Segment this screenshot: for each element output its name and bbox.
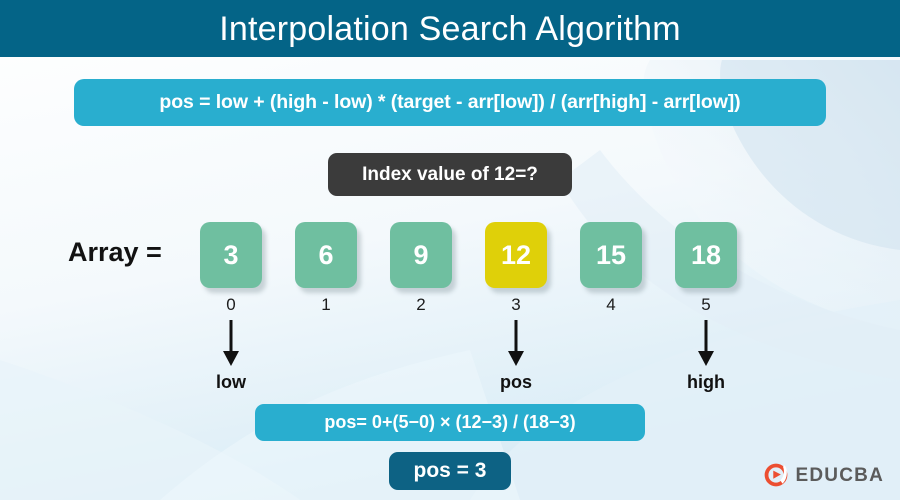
pointer-arrow-icon <box>211 320 251 370</box>
result-badge: pos = 3 <box>389 452 511 490</box>
array-cell-value: 3 <box>223 242 238 269</box>
array-cell-index: 4 <box>580 295 642 315</box>
educba-logo-text: EDUCBA <box>796 466 884 485</box>
array-cell-index: 5 <box>675 295 737 315</box>
array-cell-value: 6 <box>318 242 333 269</box>
array-cell-index: 0 <box>200 295 262 315</box>
pointer-label-high: high <box>646 372 766 393</box>
array-cell-value: 15 <box>596 242 626 269</box>
pointer-arrow-icon <box>496 320 536 370</box>
array-cell-index: 3 <box>485 295 547 315</box>
array-cell: 9 <box>390 222 452 288</box>
calculation-banner: pos= 0+(5−0) × (12−3) / (18−3) <box>255 404 645 441</box>
pointer-label-pos: pos <box>456 372 576 393</box>
array-cell-index: 2 <box>390 295 452 315</box>
array-cell-value: 12 <box>501 242 531 269</box>
array-cell-index: 1 <box>295 295 357 315</box>
array-cell-value: 18 <box>691 242 721 269</box>
pointer-arrow-icon <box>686 320 726 370</box>
array-cell: 12 <box>485 222 547 288</box>
array-cell-value: 9 <box>413 242 428 269</box>
array-cell: 15 <box>580 222 642 288</box>
array-cell: 6 <box>295 222 357 288</box>
educba-play-icon <box>763 462 789 488</box>
result-text: pos = 3 <box>414 459 487 483</box>
array-cell: 18 <box>675 222 737 288</box>
pointer-label-low: low <box>171 372 291 393</box>
educba-logo: EDUCBA <box>763 462 884 488</box>
array-cell: 3 <box>200 222 262 288</box>
calculation-text: pos= 0+(5−0) × (12−3) / (18−3) <box>324 412 575 433</box>
page-title: Interpolation Search Algorithm <box>219 12 680 46</box>
slide-header: Interpolation Search Algorithm <box>0 0 900 57</box>
infographic-slide: Interpolation Search Algorithm pos = low… <box>0 0 900 500</box>
